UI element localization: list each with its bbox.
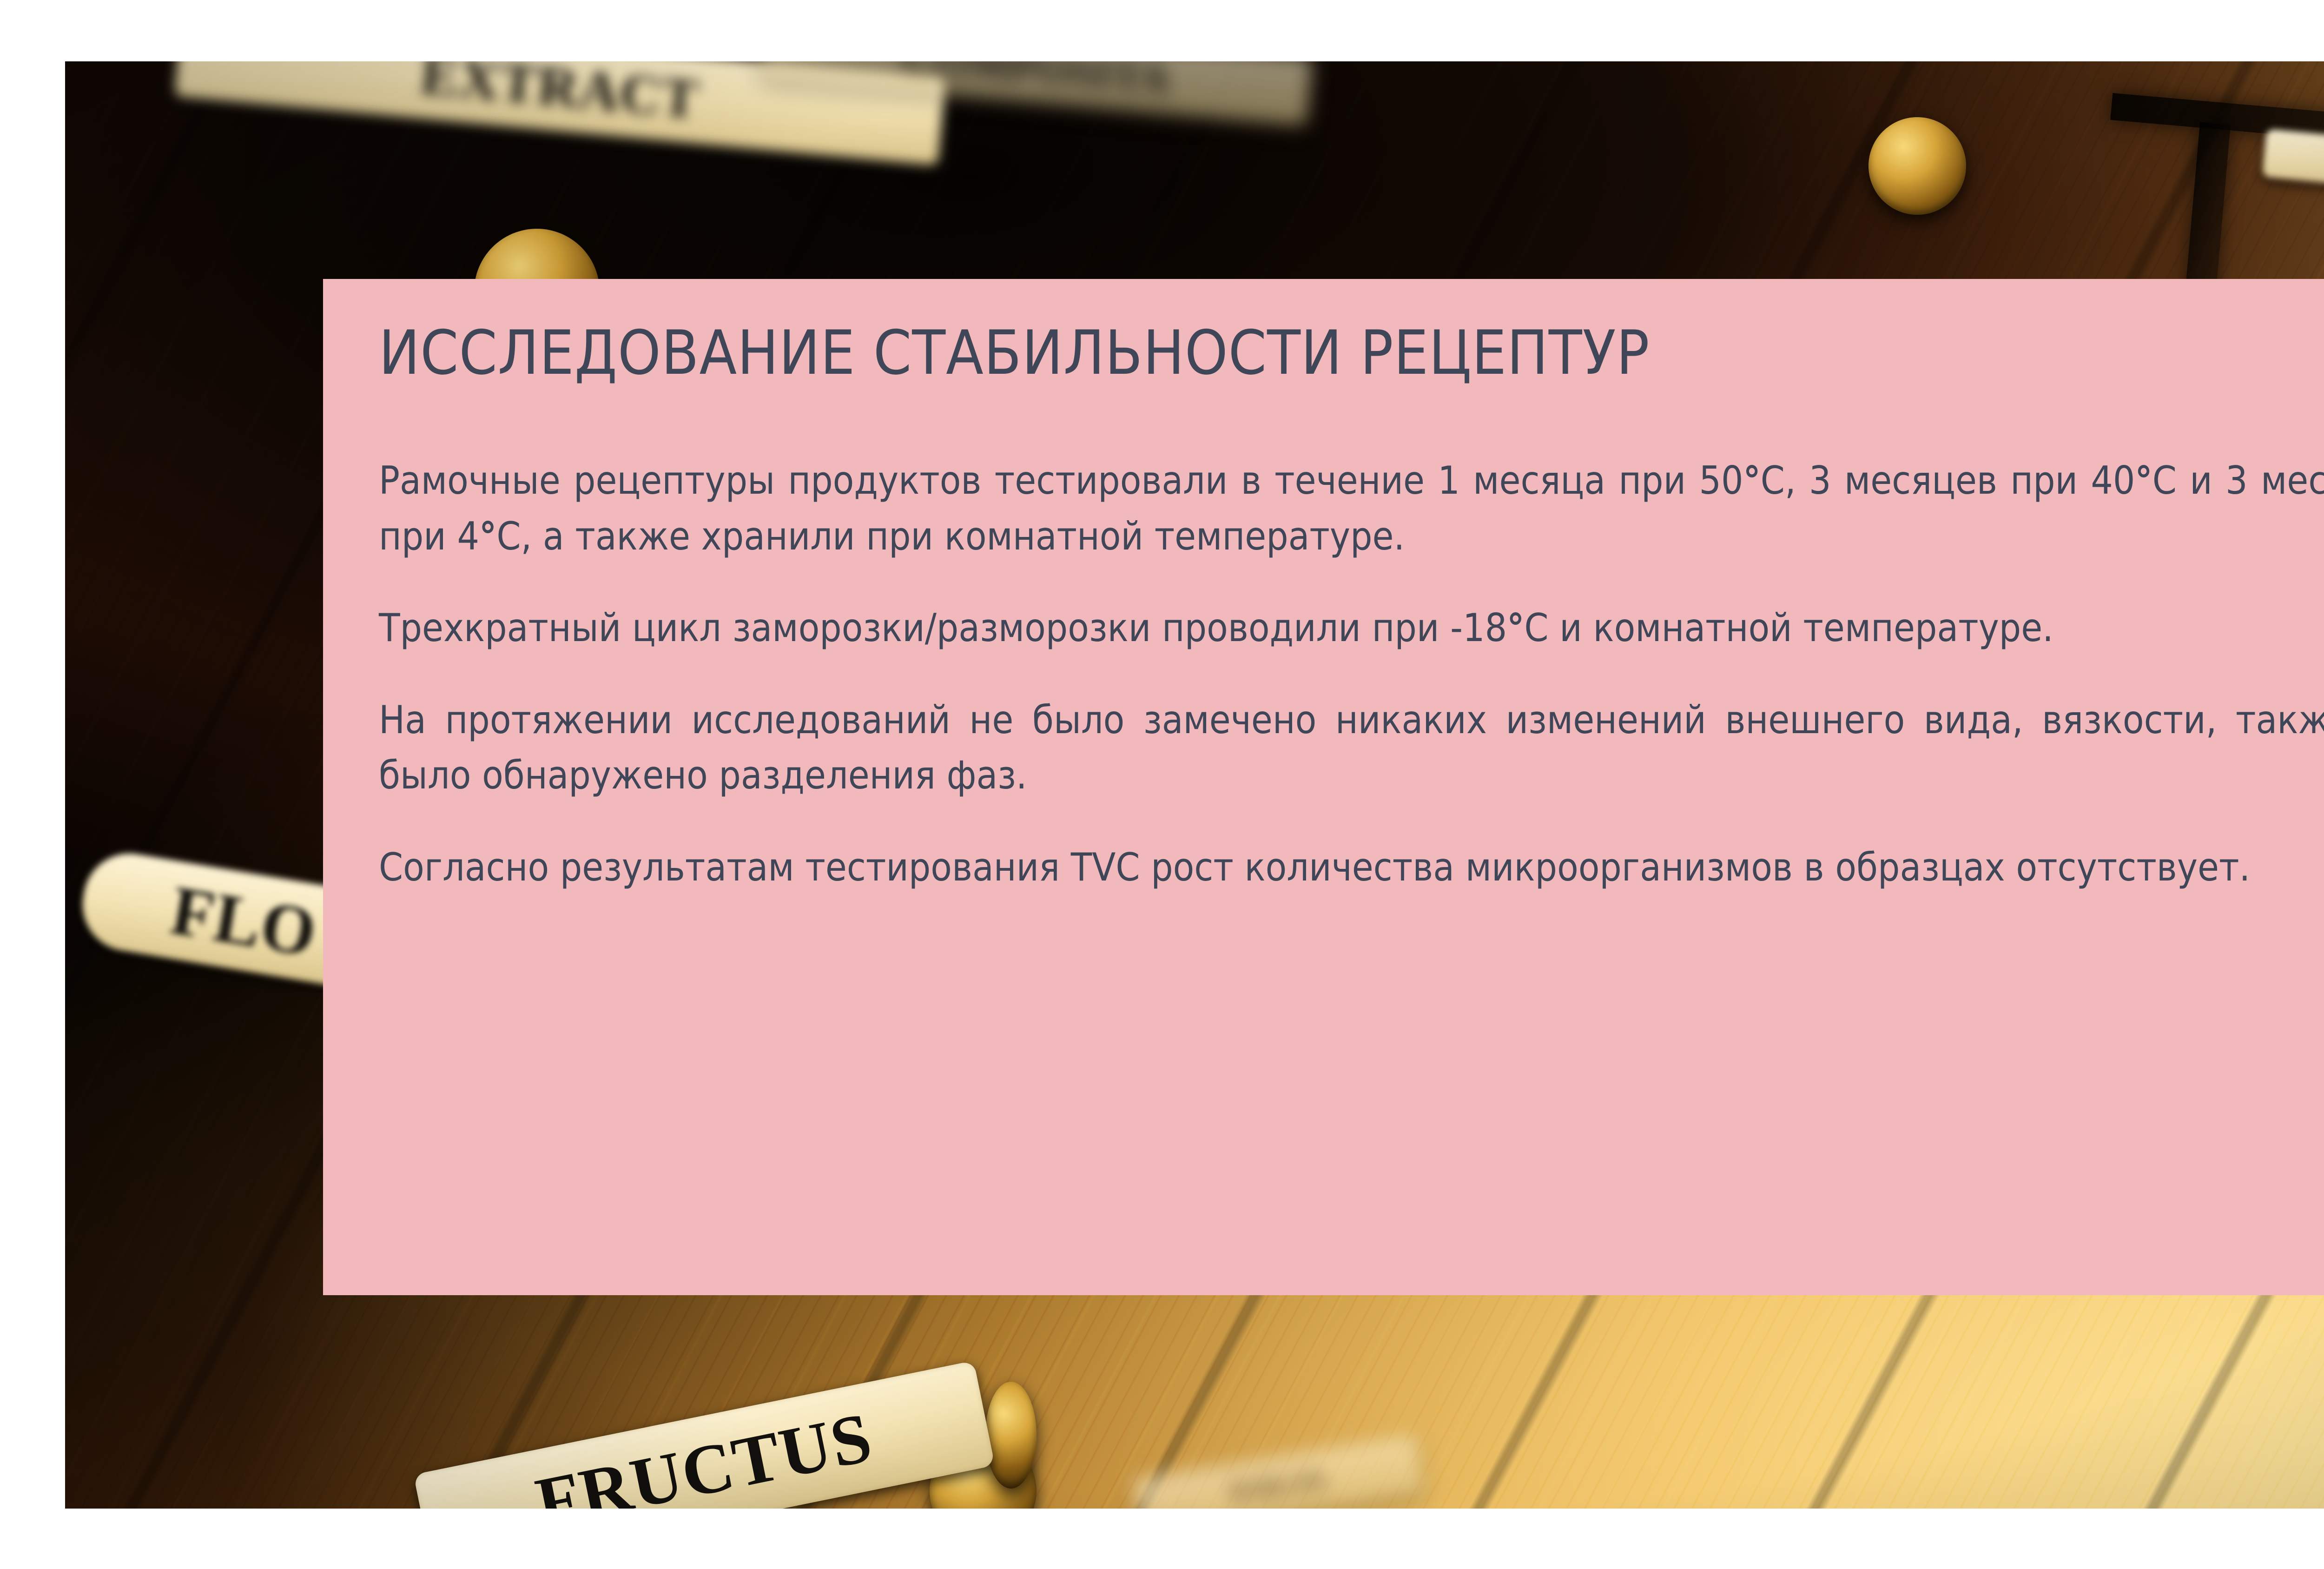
text-run: Трехкратный цикл заморозки/разморозки пр… [379, 605, 1507, 650]
body-text-container: Рамочные рецептуры продуктов тестировали… [379, 453, 2324, 895]
paragraph-stability-testing: Рамочные рецептуры продуктов тестировали… [379, 453, 2324, 564]
text-run: С и комнатной температуре. [1524, 605, 2053, 650]
degree-symbol: ° [1507, 605, 1524, 650]
slide-canvas: EXTRACT COMPOSITA RADIX HERBA SEMEN CORT… [0, 0, 2324, 1569]
paragraph-appearance-observations: На протяжении исследований не было замеч… [379, 692, 2324, 803]
text-run: Рамочные рецептуры продуктов тестировали… [379, 458, 1743, 503]
text-run: На протяжении исследований не было замеч… [379, 697, 2324, 798]
text-run: С, 3 месяцев при 40 [1761, 458, 2135, 503]
text-run: С, а также хранили при комнатной темпера… [496, 514, 1405, 559]
degree-symbol: ° [479, 514, 496, 559]
degree-symbol: ° [1743, 458, 1760, 503]
paragraph-tvc-results: Согласно результатам тестирования TVC ро… [379, 840, 2324, 895]
paragraph-freeze-thaw-cycle: Трехкратный цикл заморозки/разморозки пр… [379, 600, 2324, 656]
page-title: ИССЛЕДОВАНИЕ СТАБИЛЬНОСТИ РЕЦЕПТУР [379, 322, 2324, 383]
text-run: Согласно результатам тестирования TVC ро… [379, 845, 2250, 890]
degree-symbol: ° [2135, 458, 2152, 503]
content-panel: ИССЛЕДОВАНИЕ СТАБИЛЬНОСТИ РЕЦЕПТУР Рамоч… [323, 279, 2324, 1295]
